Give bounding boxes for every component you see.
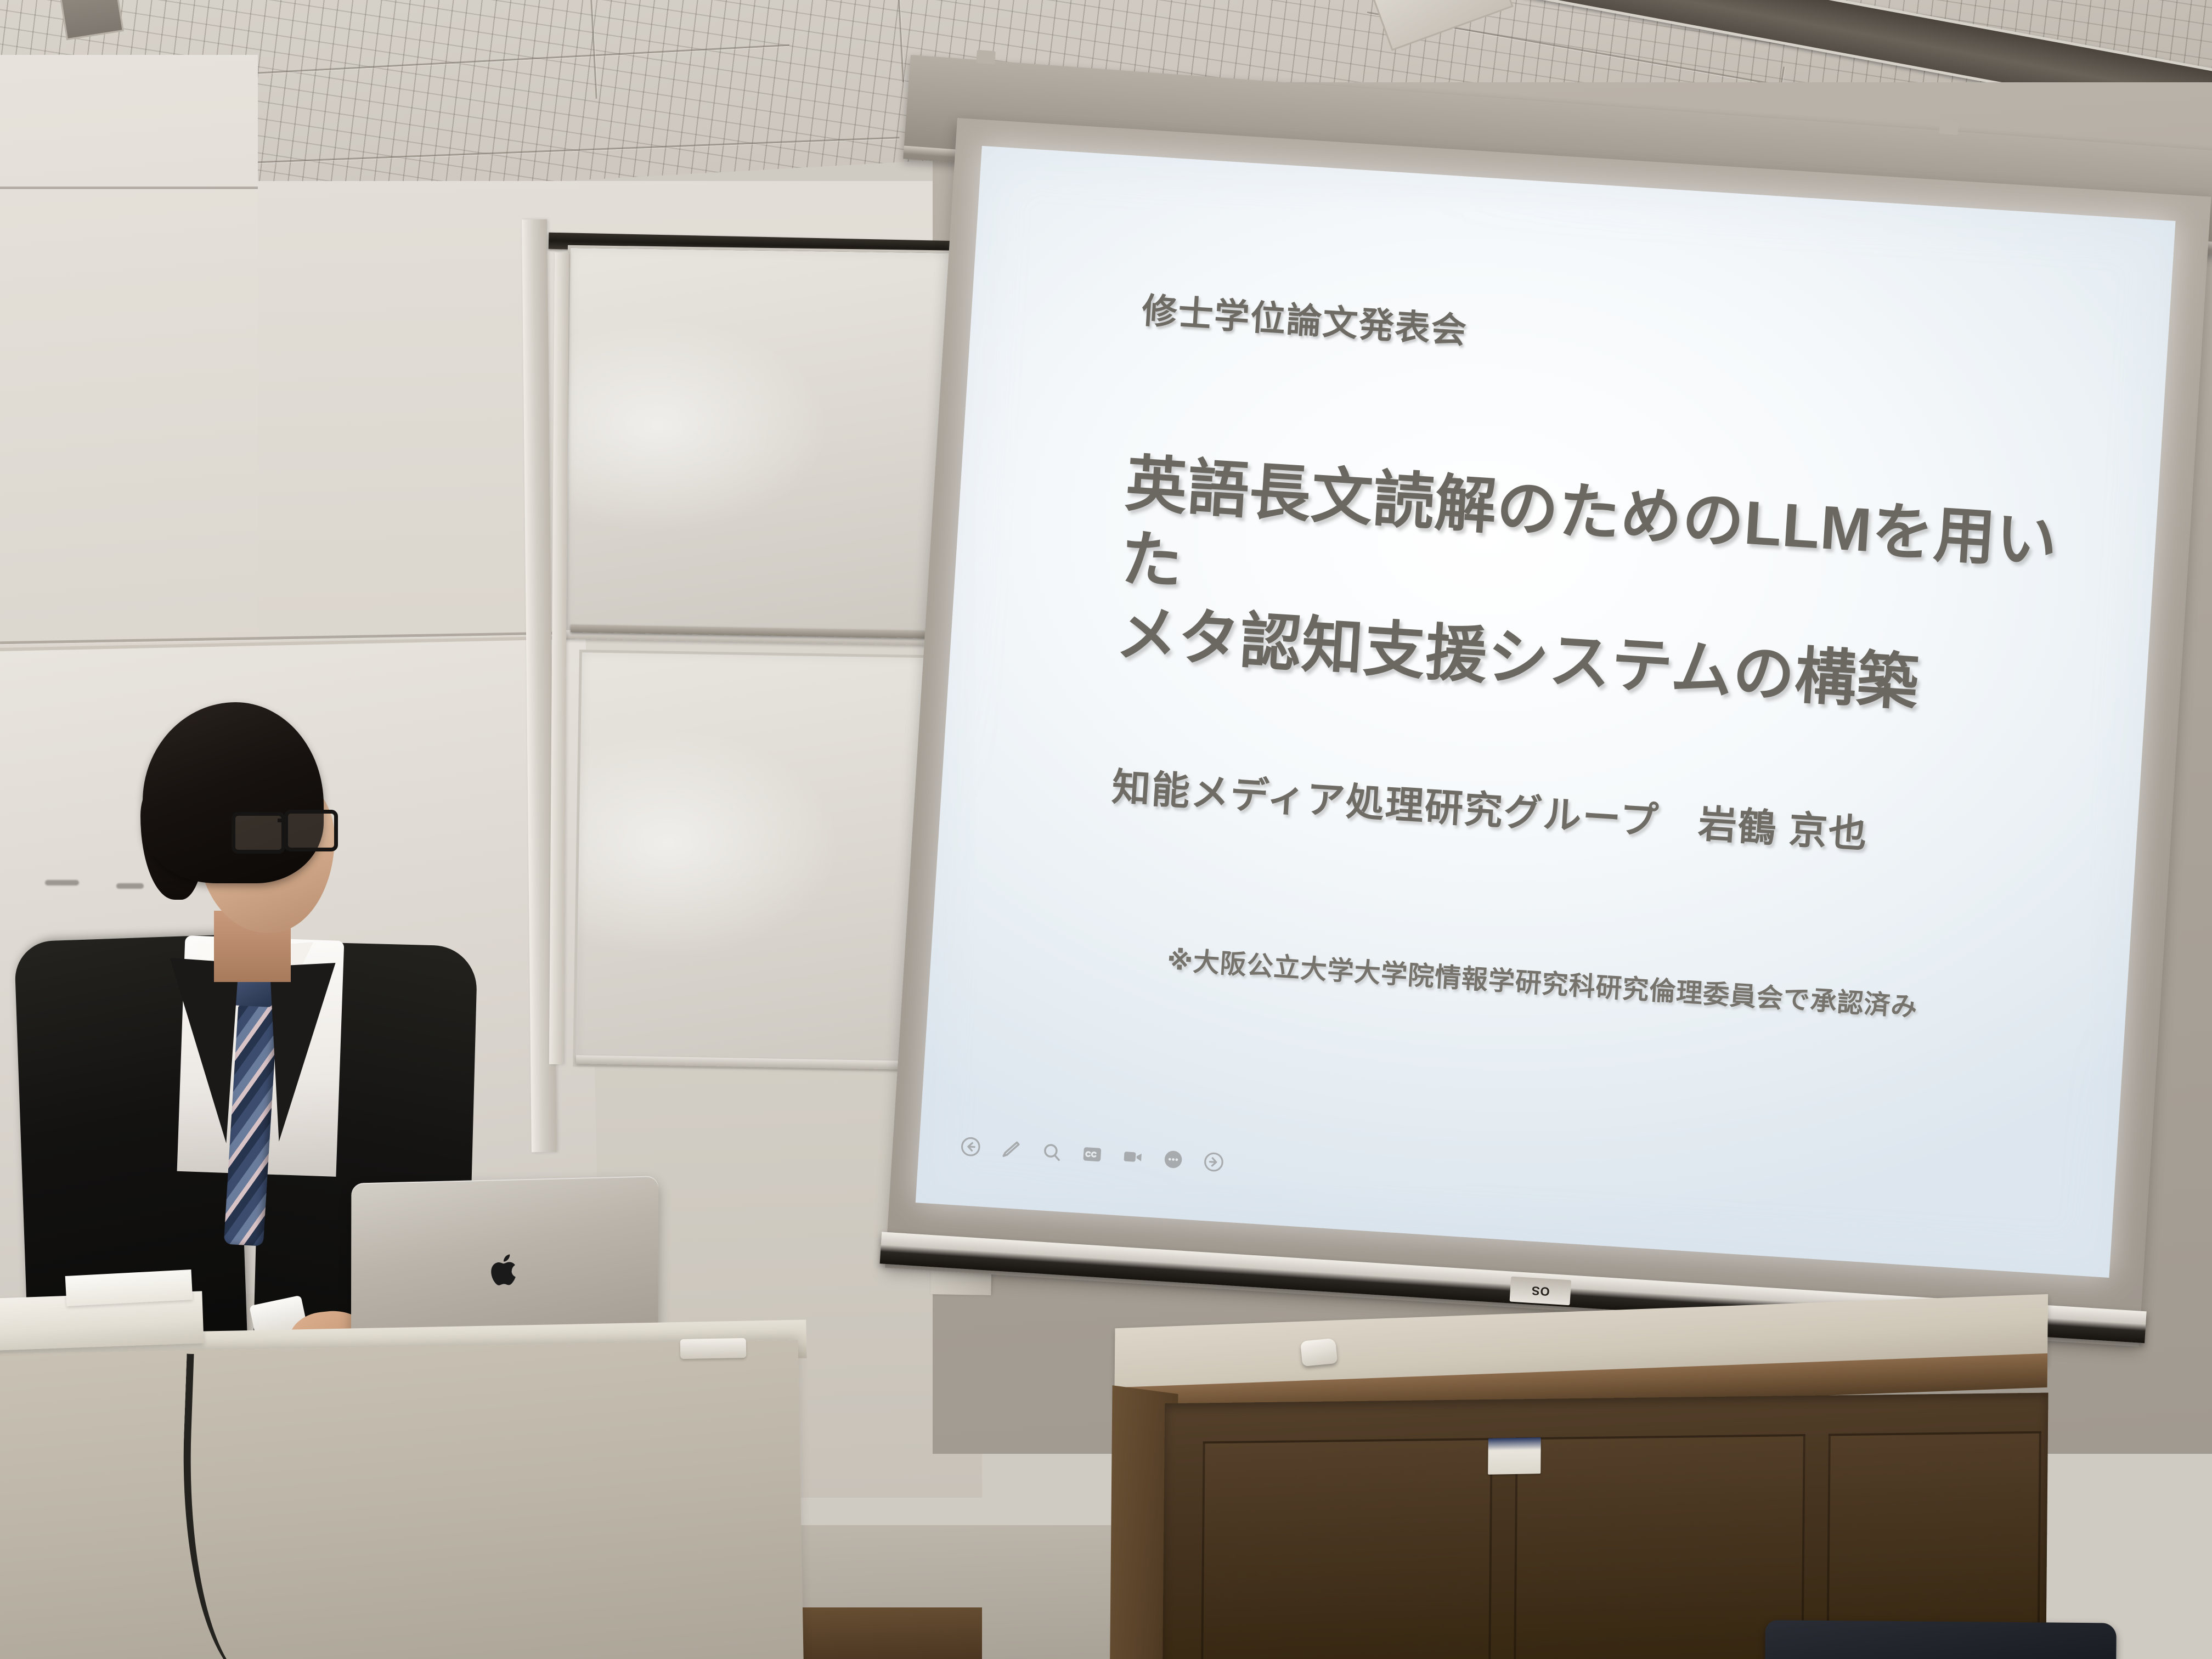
camera-button[interactable]: [1120, 1144, 1145, 1170]
wooden-lectern: [1112, 1307, 2048, 1659]
slide-eyebrow: 修士学位論文発表会: [1141, 283, 1469, 353]
housing-bracket: [976, 50, 996, 64]
powerpoint-presenter-toolbar[interactable]: [958, 1134, 1227, 1175]
video-camera-icon: [1120, 1145, 1145, 1170]
slide-ethics-footnote: ※大阪公立大学大学院情報学研究科研究倫理委員会で承認済み: [1166, 938, 1918, 1024]
screen-brand-tab: OS: [1510, 1277, 1572, 1306]
wall-seam: [0, 187, 258, 189]
lectern-asset-label: [1488, 1437, 1541, 1475]
zoom-button[interactable]: [1039, 1139, 1065, 1165]
more-options-button[interactable]: [1160, 1147, 1186, 1172]
projector-screen: 修士学位論文発表会 英語長文読解のためのLLMを用いた メタ認知支援システムの構…: [882, 118, 2211, 1390]
suit-lapel-left: [157, 958, 239, 1143]
slide-content: 修士学位論文発表会 英語長文読解のためのLLMを用いた メタ認知支援システムの構…: [916, 146, 2176, 1278]
eyeglass-lens-right: [284, 810, 338, 851]
suit-lapel-right: [270, 963, 345, 1142]
lecture-room-photo: 修士学位論文発表会 英語長文読解のためのLLMを用いた メタ認知支援システムの構…: [0, 0, 2212, 1659]
housing-bracket: [1939, 121, 1959, 135]
magnifier-icon: [1040, 1139, 1064, 1164]
lectern-door-panel: [1514, 1434, 1805, 1659]
pen-icon: [999, 1137, 1024, 1162]
black-bag: [1764, 1620, 2117, 1659]
lectern-door-panel: [1201, 1438, 1493, 1659]
apple-logo-icon: [489, 1250, 521, 1289]
lectern-front-body: [1163, 1393, 2049, 1659]
previous-slide-button[interactable]: [958, 1134, 984, 1160]
slide-title: 英語長文読解のためのLLMを用いた メタ認知支援システムの構築: [1114, 447, 2108, 732]
small-object-on-lectern: [1300, 1338, 1338, 1367]
cable-clip: [680, 1338, 747, 1359]
pen-button[interactable]: [998, 1137, 1024, 1163]
upper-left-wall: [0, 55, 258, 658]
closed-caption-icon: [1080, 1142, 1105, 1167]
ellipsis-circle-icon: [1161, 1147, 1186, 1172]
next-slide-button[interactable]: [1201, 1149, 1227, 1175]
presenter-desk-front: [0, 1340, 804, 1659]
whiteboard-panel-upper: [562, 245, 979, 640]
eyeglasses: [232, 810, 336, 848]
arrow-right-circle-icon: [1201, 1150, 1226, 1175]
arrow-left-circle-icon: [958, 1135, 983, 1159]
hair: [143, 702, 324, 883]
slide-author-affiliation: 知能メディア処理研究グループ 岩鶴 京也: [1110, 756, 1870, 859]
subtitles-button[interactable]: [1080, 1142, 1105, 1167]
